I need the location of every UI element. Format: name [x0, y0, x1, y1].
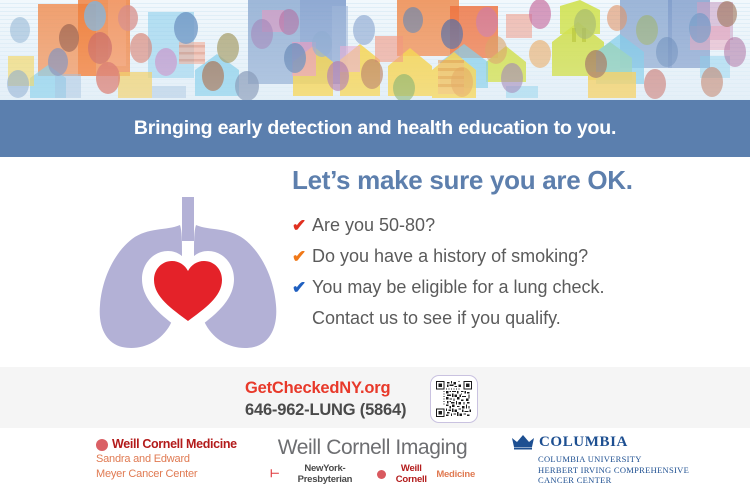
lungs-heart-svg — [88, 197, 288, 362]
contact-lines: GetCheckedNY.org 646-962-LUNG (5864) — [245, 377, 406, 421]
tagline-text: Bringing early detection and health educ… — [134, 117, 616, 140]
wci-partner-row: ⊢ NewYork-Presbyterian Weill Cornell Med… — [270, 463, 475, 485]
checklist-item-label: Do you have a history of smoking? — [312, 243, 588, 270]
checklist-item: ✔ You may be eligible for a lung check. — [292, 274, 732, 301]
logo-weill-cornell-medicine: Weill Cornell Medicine Sandra and Edward… — [96, 438, 237, 481]
eligibility-checklist: ✔ Are you 50-80? ✔ Do you have a history… — [292, 212, 732, 332]
qr-code-icon — [436, 381, 472, 417]
cornell-seal-icon — [377, 470, 386, 479]
check-icon: ✔ — [292, 243, 312, 270]
wcm-subtitle-line1: Sandra and Edward — [96, 453, 237, 466]
logo-weill-cornell-imaging: Weill Cornell Imaging ⊢ NewYork-Presbyte… — [270, 436, 475, 485]
check-icon: ✔ — [292, 274, 312, 301]
columbia-subtitle-line2: HERBERT IRVING COMPREHENSIVE — [538, 465, 689, 476]
wcm-subtitle-line2: Meyer Cancer Center — [96, 468, 237, 481]
contact-inner: GetCheckedNY.org 646-962-LUNG (5864) — [245, 375, 478, 423]
checklist-item-label: You may be eligible for a lung check. — [312, 274, 605, 301]
wcm-mini-logo: Weill Cornell Medicine — [377, 463, 475, 485]
checklist-item: ✔ Do you have a history of smoking? — [292, 243, 732, 270]
columbia-subtitle-line1: COLUMBIA UNIVERSITY — [538, 454, 689, 465]
artwork-illustration — [0, 0, 750, 100]
columbia-subtitle-line3: CANCER CENTER — [538, 475, 689, 486]
nyp-logo: ⊢ NewYork-Presbyterian — [270, 463, 368, 485]
poster-root: Bringing early detection and health educ… — [0, 0, 750, 500]
checklist-item: ✔ Are you 50-80? — [292, 212, 732, 239]
cornell-seal-icon — [96, 439, 108, 451]
columbia-title-row: COLUMBIA — [512, 434, 689, 450]
qr-code[interactable] — [430, 375, 478, 423]
columbia-crown-icon — [512, 434, 534, 450]
checklist-continuation: Contact us to see if you qualify. — [312, 305, 732, 332]
header-artwork — [0, 0, 750, 100]
wcm-mini-name-a: Weill Cornell — [389, 463, 434, 485]
tagline-banner: Bringing early detection and health educ… — [0, 100, 750, 157]
wcm-title-row: Weill Cornell Medicine — [96, 438, 237, 451]
message-block: Let’s make sure you are OK. ✔ Are you 50… — [292, 165, 732, 332]
main-content: Let’s make sure you are OK. ✔ Are you 50… — [0, 157, 750, 367]
columbia-name: COLUMBIA — [539, 434, 628, 450]
nyp-name: NewYork-Presbyterian — [282, 463, 369, 485]
website-link[interactable]: GetCheckedNY.org — [245, 377, 406, 399]
wcm-name: Weill Cornell Medicine — [112, 438, 237, 451]
footer-logos: Weill Cornell Medicine Sandra and Edward… — [0, 428, 750, 500]
contact-band: GetCheckedNY.org 646-962-LUNG (5864) — [0, 367, 750, 428]
check-icon: ✔ — [292, 212, 312, 239]
wci-name: Weill Cornell Imaging — [270, 436, 475, 460]
checklist-item-label: Are you 50-80? — [312, 212, 435, 239]
logo-columbia: COLUMBIA COLUMBIA UNIVERSITY HERBERT IRV… — [512, 434, 689, 486]
nyp-mark-icon: ⊢ — [270, 469, 280, 480]
phone-number[interactable]: 646-962-LUNG (5864) — [245, 399, 406, 421]
wcm-mini-name-b: Medicine — [436, 469, 475, 480]
headline: Let’s make sure you are OK. — [292, 165, 732, 196]
lungs-with-heart-illustration — [88, 197, 288, 362]
